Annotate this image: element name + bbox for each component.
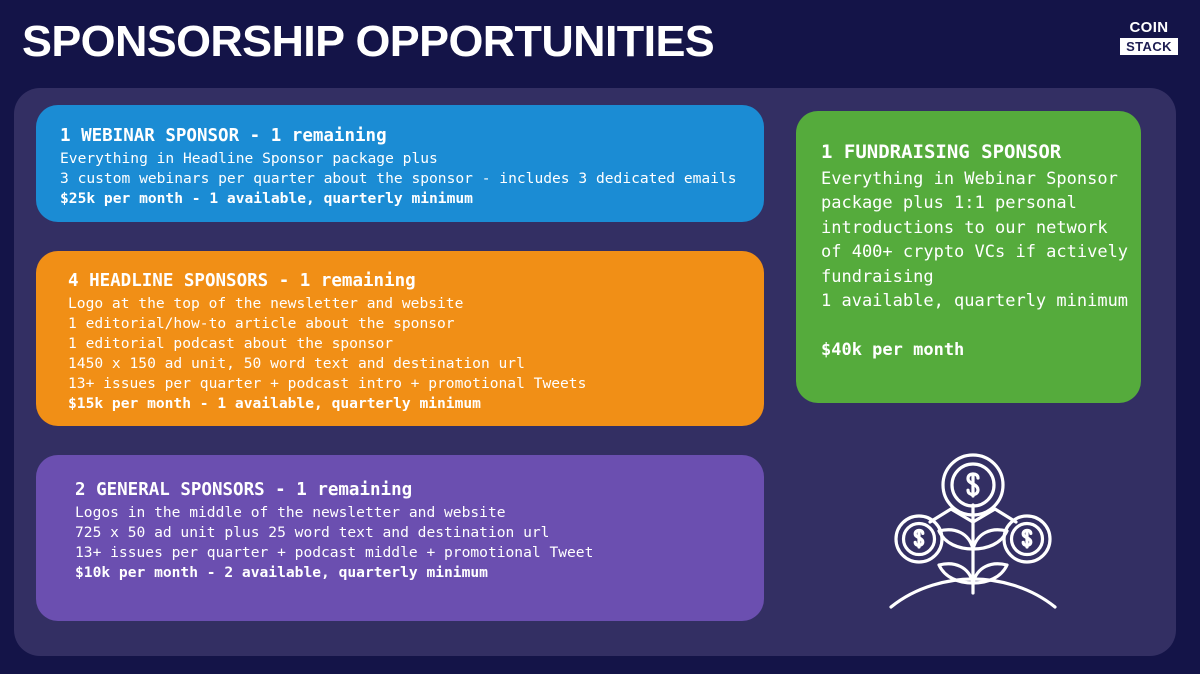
sponsor-card-general-line-2: 725 x 50 ad unit plus 25 word text and d… (75, 523, 764, 543)
page-title: SPONSORSHIP OPPORTUNITIES (22, 17, 714, 67)
content-panel: 1 WEBINAR SPONSOR - 1 remaining Everythi… (14, 88, 1176, 656)
sponsor-card-webinar-line-2: 3 custom webinars per quarter about the … (60, 169, 764, 189)
sponsor-card-webinar[interactable]: 1 WEBINAR SPONSOR - 1 remaining Everythi… (36, 105, 764, 222)
sponsor-card-fundraising-line-6: 1 available, quarterly minimum (821, 289, 1141, 313)
sponsor-card-fundraising-line-3: introductions to our network (821, 216, 1141, 240)
sponsor-card-headline[interactable]: 4 HEADLINE SPONSORS - 1 remaining Logo a… (36, 251, 764, 426)
sponsor-card-general[interactable]: 2 GENERAL SPONSORS - 1 remaining Logos i… (36, 455, 764, 621)
sponsor-card-fundraising-line-4: of 400+ crypto VCs if actively (821, 240, 1141, 264)
sponsor-card-general-price: $10k per month - 2 available, quarterly … (75, 563, 764, 583)
sponsor-card-fundraising[interactable]: 1 FUNDRAISING SPONSOR Everything in Webi… (796, 111, 1141, 403)
sponsor-card-general-line-1: Logos in the middle of the newsletter an… (75, 503, 764, 523)
sponsor-card-headline-line-5: 13+ issues per quarter + podcast intro +… (68, 374, 764, 394)
brand-logo-top-text: COIN (1120, 20, 1178, 36)
sponsor-card-fundraising-line-2: package plus 1:1 personal (821, 191, 1141, 215)
sponsor-card-fundraising-line-1: Everything in Webinar Sponsor (821, 167, 1141, 191)
sponsor-card-headline-price: $15k per month - 1 available, quarterly … (68, 394, 764, 414)
sponsor-card-fundraising-title: 1 FUNDRAISING SPONSOR (821, 138, 1141, 167)
sponsor-card-headline-line-4: 1450 x 150 ad unit, 50 word text and des… (68, 354, 764, 374)
sponsor-card-webinar-title: 1 WEBINAR SPONSOR - 1 remaining (60, 123, 764, 149)
sponsor-card-headline-line-1: Logo at the top of the newsletter and we… (68, 294, 764, 314)
brand-logo: COIN STACK (1120, 20, 1178, 55)
slide-header: SPONSORSHIP OPPORTUNITIES COIN STACK (0, 0, 1200, 88)
sponsor-card-fundraising-line-5: fundraising (821, 265, 1141, 289)
brand-logo-bottom-text: STACK (1120, 38, 1178, 55)
sponsor-card-webinar-price: $25k per month - 1 available, quarterly … (60, 189, 764, 209)
sponsor-card-fundraising-price: $40k per month (821, 338, 1141, 362)
sponsor-card-general-title: 2 GENERAL SPONSORS - 1 remaining (75, 477, 764, 503)
sponsor-card-headline-line-3: 1 editorial podcast about the sponsor (68, 334, 764, 354)
money-plant-icon (883, 443, 1063, 623)
sponsor-card-general-line-3: 13+ issues per quarter + podcast middle … (75, 543, 764, 563)
sponsor-card-webinar-line-1: Everything in Headline Sponsor package p… (60, 149, 764, 169)
sponsor-card-headline-line-2: 1 editorial/how-to article about the spo… (68, 314, 764, 334)
sponsor-card-headline-title: 4 HEADLINE SPONSORS - 1 remaining (68, 268, 764, 294)
